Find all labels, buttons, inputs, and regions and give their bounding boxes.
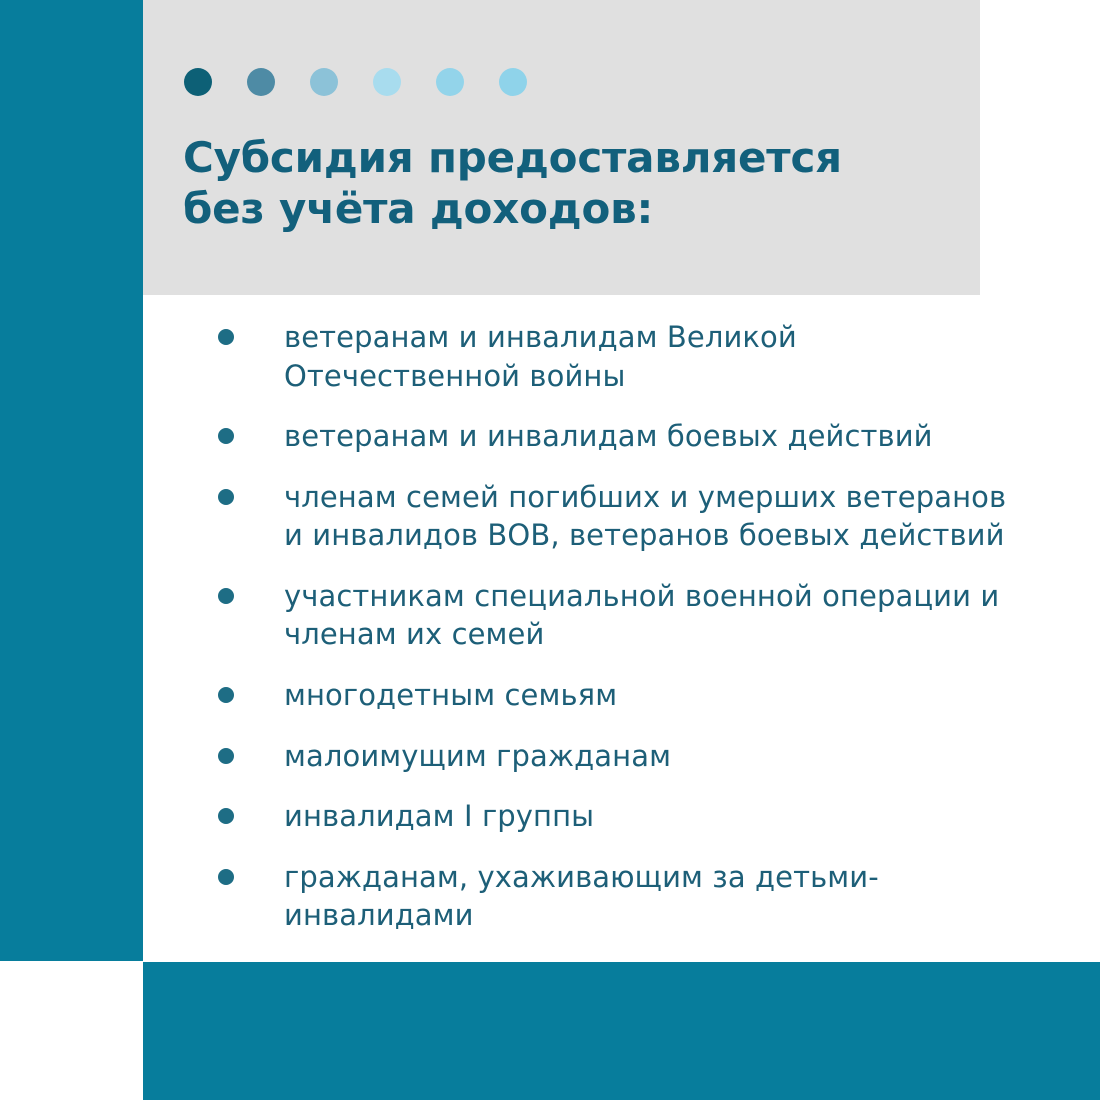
circle-icon-2 <box>247 68 275 96</box>
bullet-icon <box>218 588 234 604</box>
list-item: инвалидам I группы <box>218 797 1018 836</box>
bullet-icon <box>218 428 234 444</box>
bullet-icon <box>218 489 234 505</box>
list-item-label: участникам специальной военной операции … <box>284 577 1018 654</box>
bullet-icon <box>218 687 234 703</box>
bottom-accent-bar <box>143 962 1100 1100</box>
page-title-line-2: без учёта доходов: <box>183 183 943 234</box>
list-item-label: гражданам, ухаживающим за детьми-инвалид… <box>284 858 1018 935</box>
decorative-dots-row <box>184 68 527 96</box>
list-item: многодетным семьям <box>218 676 1018 715</box>
circle-icon-1 <box>184 68 212 96</box>
circle-icon-3 <box>310 68 338 96</box>
list-item-label: ветеранам и инвалидам боевых действий <box>284 417 1018 456</box>
bullet-icon <box>218 869 234 885</box>
bullet-icon <box>218 808 234 824</box>
list-item-label: ветеранам и инвалидам Великой Отечествен… <box>284 318 1018 395</box>
page-title-line-1: Субсидия предоставляется <box>183 132 943 183</box>
left-accent-bar <box>0 0 143 961</box>
list-item: членам семей погибших и умерших ветерано… <box>218 478 1018 555</box>
list-item-label: членам семей погибших и умерших ветерано… <box>284 478 1018 555</box>
circle-icon-5 <box>436 68 464 96</box>
list-item: ветеранам и инвалидам боевых действий <box>218 417 1018 456</box>
list-item: участникам специальной военной операции … <box>218 577 1018 654</box>
bullet-icon <box>218 329 234 345</box>
eligibility-list: ветеранам и инвалидам Великой Отечествен… <box>218 318 1018 935</box>
page-title: Субсидия предоставляется без учёта доход… <box>183 132 943 234</box>
list-item-label: малоимущим гражданам <box>284 737 1018 776</box>
list-item-label: инвалидам I группы <box>284 797 1018 836</box>
list-item: гражданам, ухаживающим за детьми-инвалид… <box>218 858 1018 935</box>
list-item-label: многодетным семьям <box>284 676 1018 715</box>
bullet-icon <box>218 748 234 764</box>
circle-icon-4 <box>373 68 401 96</box>
list-item: малоимущим гражданам <box>218 737 1018 776</box>
circle-icon-6 <box>499 68 527 96</box>
list-item: ветеранам и инвалидам Великой Отечествен… <box>218 318 1018 395</box>
